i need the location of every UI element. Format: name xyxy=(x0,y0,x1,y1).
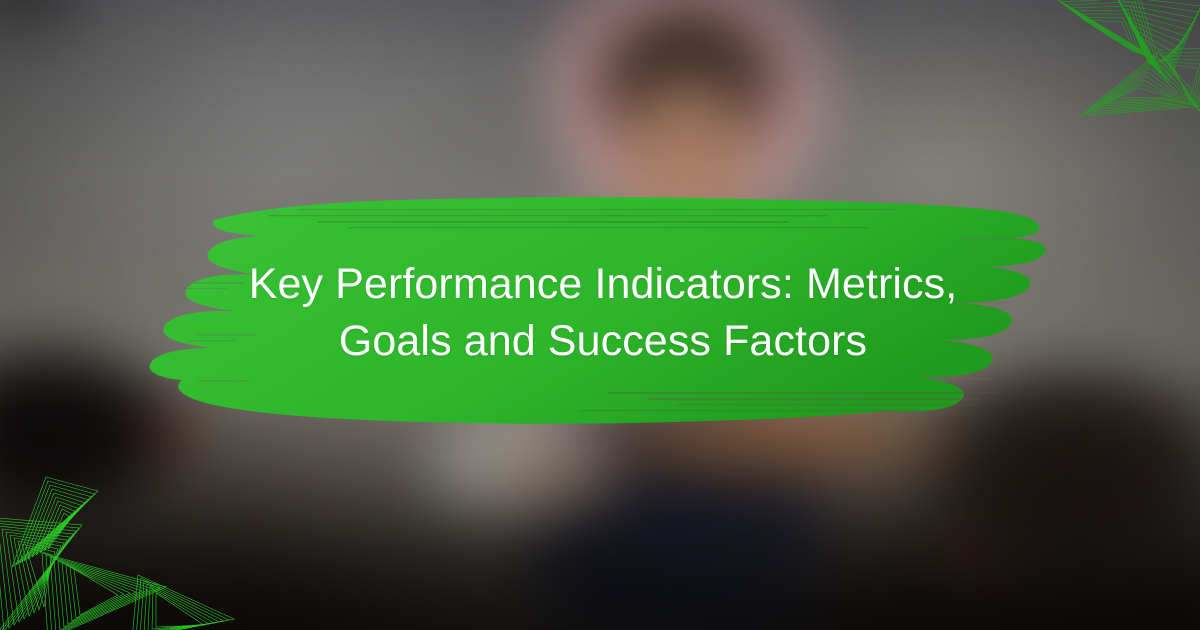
title-line-2: Goals and Success Factors xyxy=(339,313,867,370)
page-title: Key Performance Indicators: Metrics, Goa… xyxy=(138,182,1068,444)
title-line-1: Key Performance Indicators: Metrics, xyxy=(249,256,958,313)
title-brush-stroke: Key Performance Indicators: Metrics, Goa… xyxy=(138,182,1068,444)
banner-card: Key Performance Indicators: Metrics, Goa… xyxy=(0,0,1200,630)
